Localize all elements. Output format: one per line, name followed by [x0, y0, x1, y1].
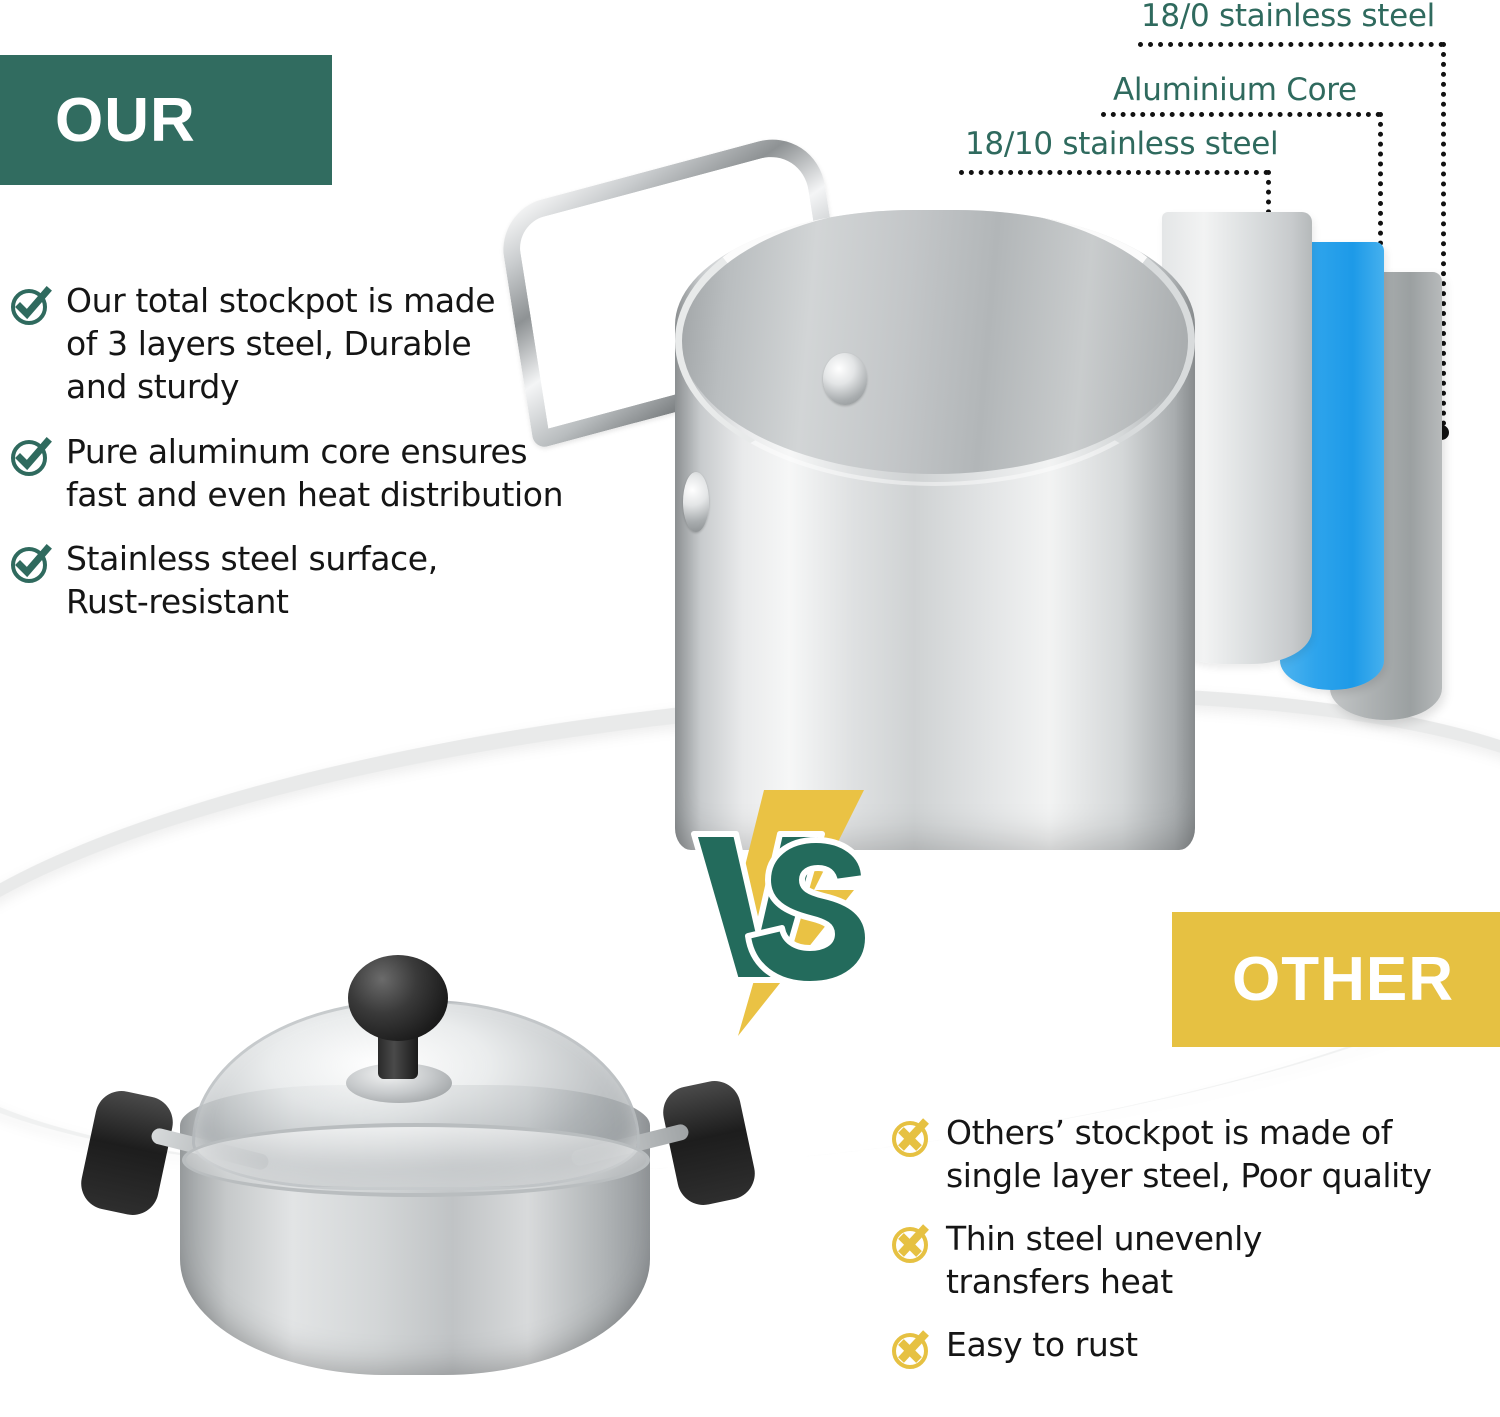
list-item: Others’ stockpot is made of single layer…	[888, 1112, 1492, 1198]
x-circle-icon	[888, 1116, 932, 1160]
our-badge: OUR	[0, 55, 332, 185]
other-pot-handle-right	[658, 1076, 759, 1210]
our-badge-label: OUR	[55, 85, 196, 156]
list-item: Easy to rust	[888, 1324, 1492, 1372]
list-item-label: Others’ stockpot is made of single layer…	[946, 1112, 1432, 1198]
other-badge: OTHER	[1172, 912, 1500, 1047]
check-circle-icon	[8, 284, 52, 328]
list-item: Thin steel unevenly transfers heat	[888, 1218, 1492, 1304]
stockpot-rivet	[683, 472, 709, 532]
callout-label-outer-layer: 18/0 stainless steel	[1141, 0, 1435, 34]
x-circle-icon	[888, 1328, 932, 1372]
infographic-canvas: OUR Our total stockpot is made of 3 laye…	[0, 0, 1500, 1417]
leader-line-core-horizontal	[1101, 112, 1381, 117]
other-badge-label: OTHER	[1232, 944, 1454, 1015]
check-circle-icon	[8, 542, 52, 586]
list-item-label: Pure aluminum core ensures fast and even…	[66, 431, 563, 517]
other-stockpot-image	[70, 945, 770, 1395]
stockpot-rivet	[823, 353, 867, 405]
leader-line-outer-horizontal	[1138, 42, 1444, 47]
callout-label-core-layer: Aluminium Core	[1113, 72, 1357, 108]
stockpot-rim	[675, 210, 1195, 486]
our-stockpot-image	[505, 150, 1275, 890]
list-item-label: Stainless steel surface, Rust-resistant	[66, 538, 438, 624]
other-pot-handle-left	[76, 1086, 177, 1220]
stockpot-body	[675, 210, 1195, 850]
check-circle-icon	[8, 435, 52, 479]
list-item-label: Our total stockpot is made of 3 layers s…	[66, 280, 495, 409]
x-circle-icon	[888, 1222, 932, 1266]
other-pot-knob	[348, 955, 448, 1041]
list-item-label: Thin steel unevenly transfers heat	[946, 1218, 1262, 1304]
other-pot-lid-rim	[182, 1123, 650, 1197]
other-drawbacks-list: Others’ stockpot is made of single layer…	[888, 1112, 1492, 1392]
list-item-label: Easy to rust	[946, 1324, 1138, 1367]
